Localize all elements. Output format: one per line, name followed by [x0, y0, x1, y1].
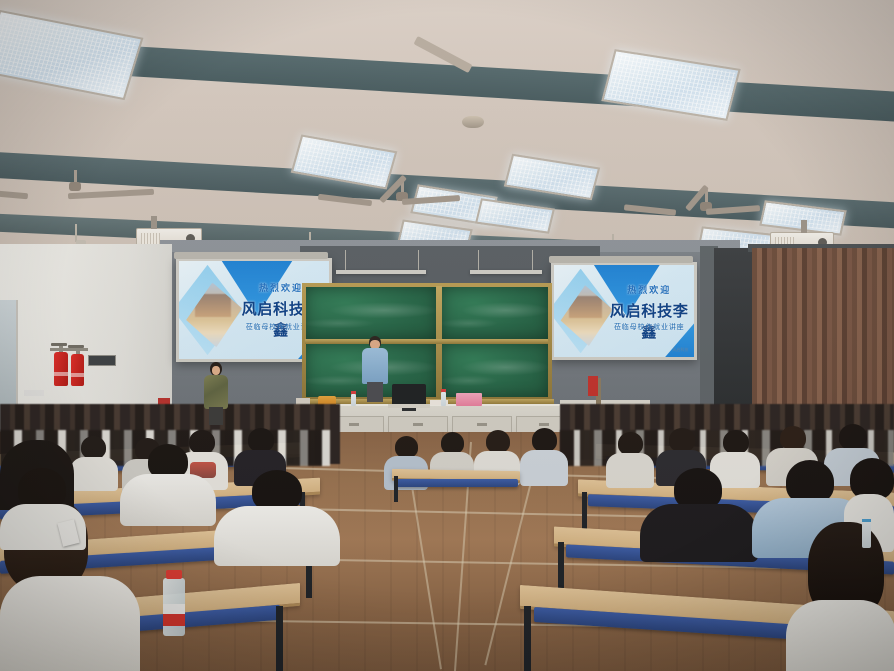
screen-roller-left [174, 252, 328, 259]
student-head [839, 424, 867, 450]
board-lamp-rod [478, 250, 479, 272]
desk-leg [276, 606, 283, 671]
blackboard-divider [305, 339, 548, 344]
student-head [780, 426, 806, 450]
bottle-label [163, 604, 185, 626]
blackboard-panel [306, 287, 436, 339]
blackboard-panel [442, 287, 548, 339]
student-head [486, 430, 510, 453]
desk-leg [394, 476, 398, 502]
smoke-detector-icon [462, 116, 484, 128]
student-head [618, 432, 643, 455]
fire-extinguisher [71, 354, 84, 386]
projection-screen-right: 热烈欢迎 风启科技李鑫 莅临母校作就业讲座 风启科技 [551, 262, 697, 360]
presenter-legs [367, 382, 383, 402]
student-person-foreground [640, 468, 758, 560]
extinguisher-bracket [50, 348, 88, 351]
board-lamp [470, 270, 542, 274]
student-person-foreground [786, 522, 894, 671]
student-head [532, 428, 557, 452]
student-torso [0, 576, 140, 671]
fire-extinguisher [54, 352, 68, 386]
slide-right: 热烈欢迎 风启科技李鑫 莅临母校作就业讲座 风启科技 [554, 265, 694, 357]
keyboard [388, 404, 430, 408]
presenter-torso [362, 348, 388, 384]
student-head [723, 430, 749, 454]
student-torso [214, 506, 340, 566]
screen-roller-right [549, 256, 693, 263]
student-torso [640, 504, 758, 562]
student-head [441, 432, 464, 454]
water-bottle-foreground [163, 570, 185, 636]
water-bottle [351, 394, 356, 406]
student-head [248, 428, 274, 452]
student-head [395, 436, 418, 458]
desk-seat [396, 479, 518, 487]
host-legs [209, 407, 223, 425]
student-torso [520, 450, 568, 486]
student-person-foreground [214, 470, 340, 564]
classroom-photo: 热烈欢迎 风启科技李鑫 莅临母校作就业讲座 风启科技 热烈欢迎 风启科技李鑫 莅… [0, 0, 894, 671]
desktop-monitor [392, 384, 426, 406]
water-bottle [441, 392, 446, 406]
blackboard [302, 283, 552, 401]
desk-leg [524, 606, 531, 671]
slide-title-text: 风启科技李鑫 [609, 300, 690, 342]
board-lamp [336, 270, 426, 274]
pink-box [456, 393, 482, 406]
water-bottle [862, 522, 871, 548]
board-lamp-rod [418, 250, 419, 272]
host-person [204, 362, 228, 424]
host-face [212, 366, 220, 375]
blackboard-panel [442, 343, 548, 397]
student-head [81, 436, 106, 459]
wall-notice [24, 390, 44, 396]
board-lamp-rod [345, 250, 346, 272]
red-flag [588, 376, 598, 396]
student-head [669, 428, 695, 452]
presenter-person [362, 336, 388, 402]
slide-subtitle-text: 莅临母校作就业讲座 [609, 322, 690, 332]
slide-welcome-text: 热烈欢迎 [609, 283, 690, 296]
slide-footer-mark: 风启科技 [672, 347, 688, 353]
wall-sign [88, 355, 116, 366]
board-lamp-rod [532, 250, 533, 272]
host-jacket [204, 375, 228, 409]
student-person [520, 428, 568, 484]
bottle-cap [166, 570, 182, 579]
student-torso [786, 600, 894, 671]
